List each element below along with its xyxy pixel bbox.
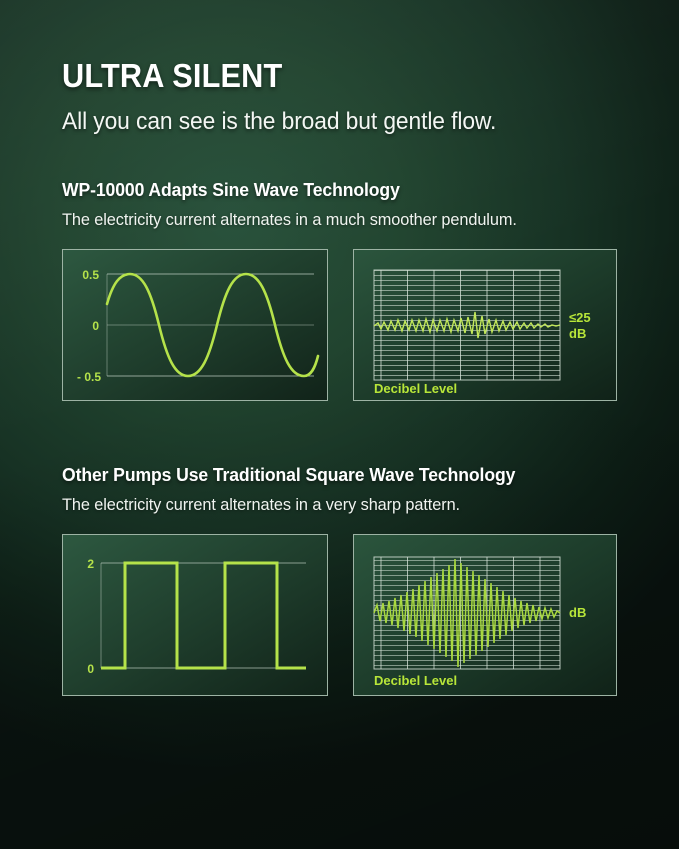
- sine-wave-panel: 0.5 0 - 0.5: [62, 249, 328, 401]
- square-ytick-0: 2: [87, 557, 94, 571]
- decibel-level-value-line1: ≤25: [569, 310, 591, 325]
- section-1-body: The electricity current alternates in a …: [62, 208, 616, 231]
- section-1-title: WP-10000 Adapts Sine Wave Technology: [62, 178, 610, 202]
- decibel-caption-quiet: Decibel Level: [374, 381, 457, 396]
- sine-ytick-2: - 0.5: [77, 370, 101, 384]
- sine-ytick-1: 0: [92, 319, 99, 333]
- section-2-title: Other Pumps Use Traditional Square Wave …: [62, 463, 528, 487]
- decibel-caption-loud: Decibel Level: [374, 673, 457, 688]
- section-sine-wave: WP-10000 Adapts Sine Wave Technology The…: [62, 178, 639, 401]
- decibel-panel-loud: dB Decibel Level: [353, 534, 617, 696]
- section-2-panels: 2 0: [62, 534, 639, 696]
- decibel-chart-quiet: ≤25 dB Decibel Level: [354, 250, 616, 400]
- page-title: ULTRA SILENT: [62, 58, 599, 94]
- decibel-chart-loud: dB Decibel Level: [354, 535, 616, 695]
- page-subtitle: All you can see is the broad but gentle …: [62, 108, 610, 136]
- square-wave-panel: 2 0: [62, 534, 328, 696]
- promo-page: ULTRA SILENT All you can see is the broa…: [0, 0, 679, 849]
- square-wave-chart: 2 0: [63, 535, 327, 695]
- section-2-body: The electricity current alternates in a …: [62, 493, 616, 516]
- decibel-panel-quiet: ≤25 dB Decibel Level: [353, 249, 617, 401]
- page-content: ULTRA SILENT All you can see is the broa…: [0, 0, 679, 696]
- square-ytick-1: 0: [87, 662, 94, 676]
- section-square-wave: Other Pumps Use Traditional Square Wave …: [62, 463, 639, 696]
- decibel-level-value-line2: dB: [569, 326, 586, 341]
- decibel-level-value-loud: dB: [569, 605, 586, 620]
- sine-ytick-0: 0.5: [82, 268, 99, 282]
- section-1-panels: 0.5 0 - 0.5: [62, 249, 639, 401]
- sine-wave-chart: 0.5 0 - 0.5: [63, 250, 327, 400]
